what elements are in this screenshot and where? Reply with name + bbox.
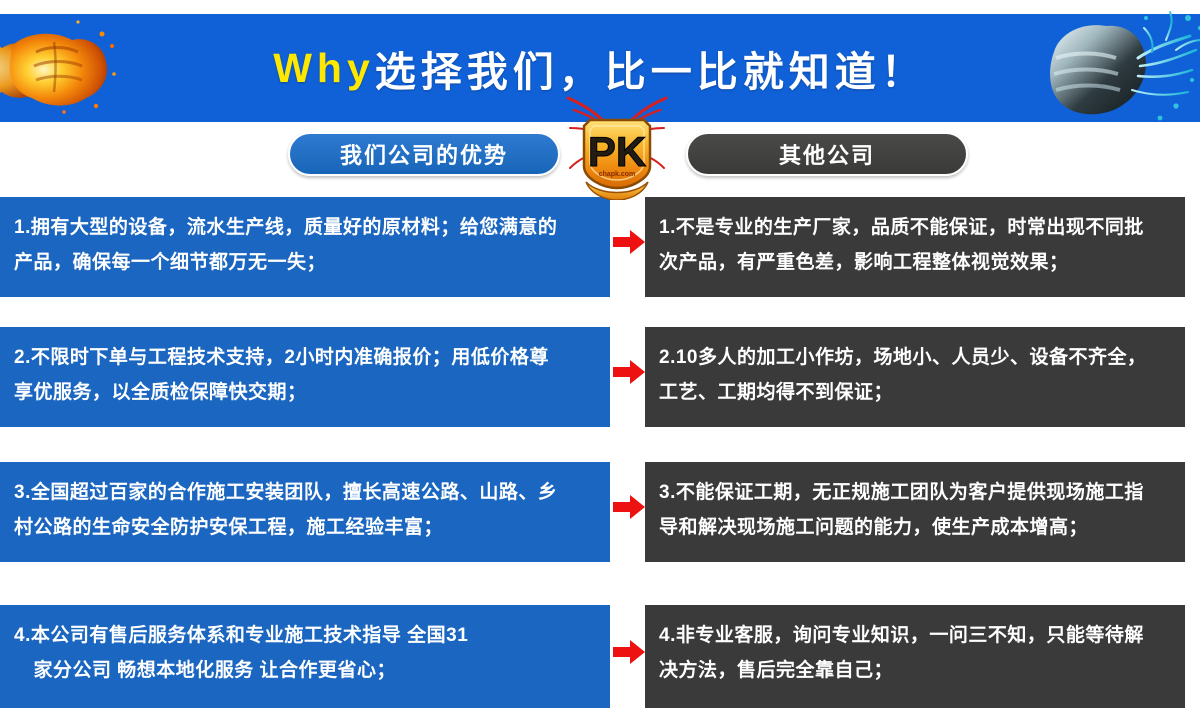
pk-logo-icon: PK chapk.com [556, 96, 678, 200]
row-cell-others: 1.不是专业的生产厂家，品质不能保证，时常出现不同批 次产品，有严重色差，影响工… [645, 197, 1185, 297]
comparison-arrow-icon [613, 639, 645, 665]
row-text-line: 4.非专业客服，询问专业知识，一问三不知，只能等待解 [659, 618, 1171, 653]
row-text-line: 4.本公司有售后服务体系和专业施工技术指导 全国31 [14, 618, 596, 653]
row-text-line: 工艺、工期均得不到保证； [659, 375, 1171, 410]
row-text-line: 1.拥有大型的设备，流水生产线，质量好的原材料；给您满意的 [14, 210, 596, 245]
table-row: 3.全国超过百家的合作施工安装团队，擅长高速公路、山路、乡 村公路的生命安全防护… [0, 462, 1200, 562]
row-text-line: 产品，确保每一个细节都万无一失； [14, 245, 596, 280]
row-cell-ours: 1.拥有大型的设备，流水生产线，质量好的原材料；给您满意的 产品，确保每一个细节… [0, 197, 610, 297]
page-title-highlight: Why [273, 45, 375, 92]
table-row: 2.不限时下单与工程技术支持，2小时内准确报价；用低价格尊 享优服务，以全质检保… [0, 327, 1200, 427]
row-text-line: 3.不能保证工期，无正规施工团队为客户提供现场施工指 [659, 475, 1171, 510]
row-text-line: 次产品，有严重色差，影响工程整体视觉效果； [659, 245, 1171, 280]
row-cell-ours: 2.不限时下单与工程技术支持，2小时内准确报价；用低价格尊 享优服务，以全质检保… [0, 327, 610, 427]
column-header-ours[interactable]: 我们公司的优势 [288, 132, 560, 176]
row-text-line: 3.全国超过百家的合作施工安装团队，擅长高速公路、山路、乡 [14, 475, 596, 510]
svg-text:PK: PK [588, 128, 646, 175]
row-text-line: 1.不是专业的生产厂家，品质不能保证，时常出现不同批 [659, 210, 1171, 245]
table-row: 4.本公司有售后服务体系和专业施工技术指导 全国31 家分公司 畅想本地化服务 … [0, 605, 1200, 708]
row-text-line: 2.不限时下单与工程技术支持，2小时内准确报价；用低价格尊 [14, 340, 596, 375]
row-text-line: 2.10多人的加工小作坊，场地小、人员少、设备不齐全， [659, 340, 1171, 375]
comparison-arrow-icon [613, 494, 645, 520]
row-text-line: 决方法，售后完全靠自己； [659, 653, 1171, 688]
row-text-line: 享优服务，以全质检保障快交期； [14, 375, 596, 410]
comparison-arrow-icon [613, 229, 645, 255]
table-row: 1.拥有大型的设备，流水生产线，质量好的原材料；给您满意的 产品，确保每一个细节… [0, 197, 1200, 297]
row-text-line: 家分公司 畅想本地化服务 让合作更省心； [14, 653, 596, 688]
page-title-rest: 选择我们，比一比就知道！ [375, 38, 927, 98]
row-cell-others: 3.不能保证工期，无正规施工团队为客户提供现场施工指 导和解决现场施工问题的能力… [645, 462, 1185, 562]
row-cell-ours: 4.本公司有售后服务体系和专业施工技术指导 全国31 家分公司 畅想本地化服务 … [0, 605, 610, 708]
row-cell-others: 2.10多人的加工小作坊，场地小、人员少、设备不齐全， 工艺、工期均得不到保证； [645, 327, 1185, 427]
column-header-others-label: 其他公司 [779, 138, 875, 170]
column-header-ours-label: 我们公司的优势 [340, 138, 508, 170]
column-header-others[interactable]: 其他公司 [686, 132, 968, 176]
row-text-line: 导和解决现场施工问题的能力，使生产成本增高； [659, 510, 1171, 545]
row-cell-ours: 3.全国超过百家的合作施工安装团队，擅长高速公路、山路、乡 村公路的生命安全防护… [0, 462, 610, 562]
row-text-line: 村公路的生命安全防护安保工程，施工经验丰富； [14, 510, 596, 545]
svg-text:chapk.com: chapk.com [599, 171, 636, 178]
comparison-arrow-icon [613, 359, 645, 385]
row-cell-others: 4.非专业客服，询问专业知识，一问三不知，只能等待解 决方法，售后完全靠自己； [645, 605, 1185, 708]
comparison-infographic: Why选择我们，比一比就知道！ 我们公司的优势 其他公司 [0, 0, 1200, 724]
